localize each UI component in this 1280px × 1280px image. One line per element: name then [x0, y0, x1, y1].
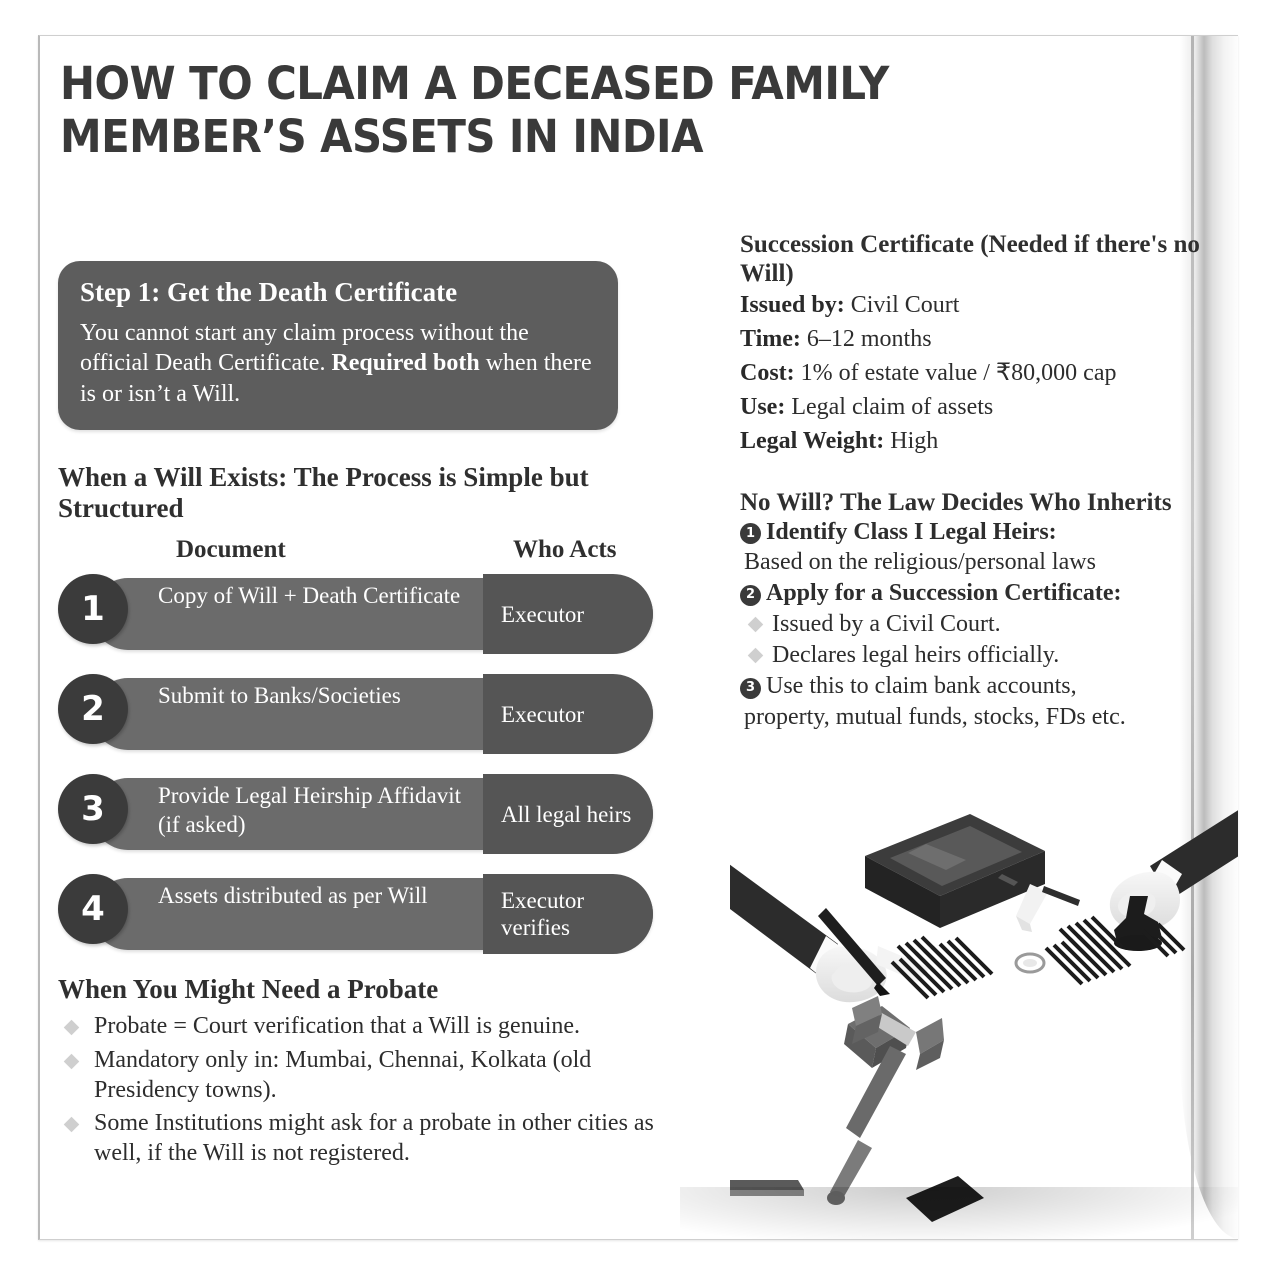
list-item-text: Issued by a Civil Court. — [772, 611, 1001, 637]
list-item-text: Some Institutions might ask for a probat… — [94, 1110, 654, 1166]
succession-value: 1% of estate value / ₹80,000 cap — [795, 360, 1117, 386]
no-will-step-3: 3Use this to claim bank accounts, — [740, 671, 1238, 701]
diamond-bullet-icon — [64, 1117, 80, 1133]
table-row[interactable]: Executor 1 Copy of Will + Death Certific… — [58, 574, 653, 652]
paper-sheet: HOW TO CLAIM A DECEASED FAMILY MEMBER’S … — [38, 35, 1238, 1240]
row-number-badge: 2 — [58, 674, 128, 744]
will-process-heading: When a Will Exists: The Process is Simpl… — [58, 462, 673, 525]
succession-label: Issued by: — [740, 292, 845, 318]
probate-section: When You Might Need a Probate Probate = … — [58, 974, 673, 1168]
circled-number-icon: 3 — [740, 678, 761, 699]
probate-list: Probate = Court verification that a Will… — [58, 1011, 673, 1168]
row-who-acts-cell: Executor — [483, 574, 653, 654]
list-item-text: Probate = Court verification that a Will… — [94, 1013, 580, 1039]
row-who-acts-text: Executor verifies — [483, 887, 653, 941]
circled-number-icon: 2 — [740, 585, 761, 606]
succession-label: Use: — [740, 394, 785, 420]
no-will-step-2: 2Apply for a Succession Certificate: — [740, 578, 1238, 608]
succession-heading: Succession Certificate (Needed if there'… — [740, 230, 1238, 288]
diamond-bullet-icon — [748, 616, 764, 632]
row-who-acts-cell: Executor verifies — [483, 874, 653, 954]
no-will-step-1-text: Identify Class I Legal Heirs: — [766, 519, 1057, 545]
step1-panel: Step 1: Get the Death Certificate You ca… — [58, 261, 618, 430]
list-item: Declares legal heirs officially. — [740, 640, 1238, 671]
row-number-badge: 1 — [58, 574, 128, 644]
document-sheet-right-icon — [1016, 917, 1184, 984]
row-who-acts-text: Executor — [483, 601, 584, 628]
document-sheet-left-icon — [876, 937, 992, 998]
column-header-document: Document — [176, 536, 286, 564]
column-header-who-acts: Who Acts — [513, 536, 616, 564]
succession-value: Legal claim of assets — [785, 394, 993, 420]
list-item: Issued by a Civil Court. — [740, 609, 1238, 640]
diamond-bullet-icon — [64, 1020, 80, 1036]
diamond-bullet-icon — [64, 1053, 80, 1069]
succession-label: Cost: — [740, 360, 795, 386]
page-title: HOW TO CLAIM A DECEASED FAMILY MEMBER’S … — [60, 58, 1009, 163]
table-row[interactable]: Executor 2 Submit to Banks/Societies — [58, 674, 653, 752]
step1-heading: Step 1: Get the Death Certificate — [80, 278, 596, 308]
no-will-step-2-text: Apply for a Succession Certificate: — [766, 580, 1122, 606]
no-will-step-3-continued: property, mutual funds, stocks, FDs etc. — [740, 702, 1238, 733]
list-item: Probate = Court verification that a Will… — [58, 1011, 673, 1041]
row-document-text: Provide Legal Heirship Affidavit (if ask… — [158, 782, 478, 838]
succession-label: Time: — [740, 326, 801, 352]
succession-value: High — [884, 428, 938, 454]
probate-heading: When You Might Need a Probate — [58, 974, 673, 1005]
no-will-heading: No Will? The Law Decides Who Inherits — [740, 488, 1238, 517]
circled-number-icon: 1 — [740, 523, 761, 544]
list-item-text: Mandatory only in: Mumbai, Chennai, Kolk… — [94, 1047, 591, 1103]
no-will-step-3-text: Use this to claim bank accounts, — [766, 673, 1077, 699]
succession-value: Civil Court — [845, 292, 960, 318]
row-who-acts-cell: Executor — [483, 674, 653, 754]
process-table-header: Document Who Acts — [58, 536, 673, 574]
list-item-text: Declares legal heirs officially. — [772, 642, 1059, 668]
hand-with-stamp-icon — [1110, 796, 1238, 951]
infographic-canvas: HOW TO CLAIM A DECEASED FAMILY MEMBER’S … — [0, 0, 1280, 1280]
no-will-step-1-detail: Based on the religious/personal laws — [740, 547, 1238, 578]
succession-row: Legal Weight: High — [740, 426, 1238, 458]
row-who-acts-text: Executor — [483, 701, 584, 728]
succession-row: Time: 6–12 months — [740, 324, 1238, 356]
sheet-bottom-shadow — [680, 1187, 1238, 1240]
step1-body-emphasis: Required both — [331, 350, 479, 376]
succession-row: Use: Legal claim of assets — [740, 392, 1238, 424]
table-row[interactable]: All legal heirs 3 Provide Legal Heirship… — [58, 774, 653, 852]
list-item: Mandatory only in: Mumbai, Chennai, Kolk… — [58, 1045, 673, 1105]
row-document-text: Assets distributed as per Will — [158, 882, 478, 910]
right-column: Succession Certificate (Needed if there'… — [740, 230, 1238, 733]
row-who-acts-cell: All legal heirs — [483, 774, 653, 854]
row-number-badge: 3 — [58, 774, 128, 844]
left-column: Step 1: Get the Death Certificate You ca… — [58, 261, 673, 1172]
table-row[interactable]: Executor verifies 4 Assets distributed a… — [58, 874, 653, 952]
succession-row: Issued by: Civil Court — [740, 290, 1238, 322]
succession-label: Legal Weight: — [740, 428, 884, 454]
illustration-legal-signing-scene — [730, 796, 1238, 1226]
no-will-step-1: 1Identify Class I Legal Heirs: — [740, 517, 1238, 547]
succession-row: Cost: 1% of estate value / ₹80,000 cap — [740, 358, 1238, 390]
row-who-acts-text: All legal heirs — [483, 801, 631, 828]
succession-value: 6–12 months — [801, 326, 932, 352]
row-document-text: Submit to Banks/Societies — [158, 682, 478, 710]
list-item: Some Institutions might ask for a probat… — [58, 1108, 673, 1168]
diamond-bullet-icon — [748, 648, 764, 664]
row-document-text: Copy of Will + Death Certificate — [158, 582, 478, 610]
step1-body: You cannot start any claim process witho… — [80, 318, 596, 410]
row-number-badge: 4 — [58, 874, 128, 944]
